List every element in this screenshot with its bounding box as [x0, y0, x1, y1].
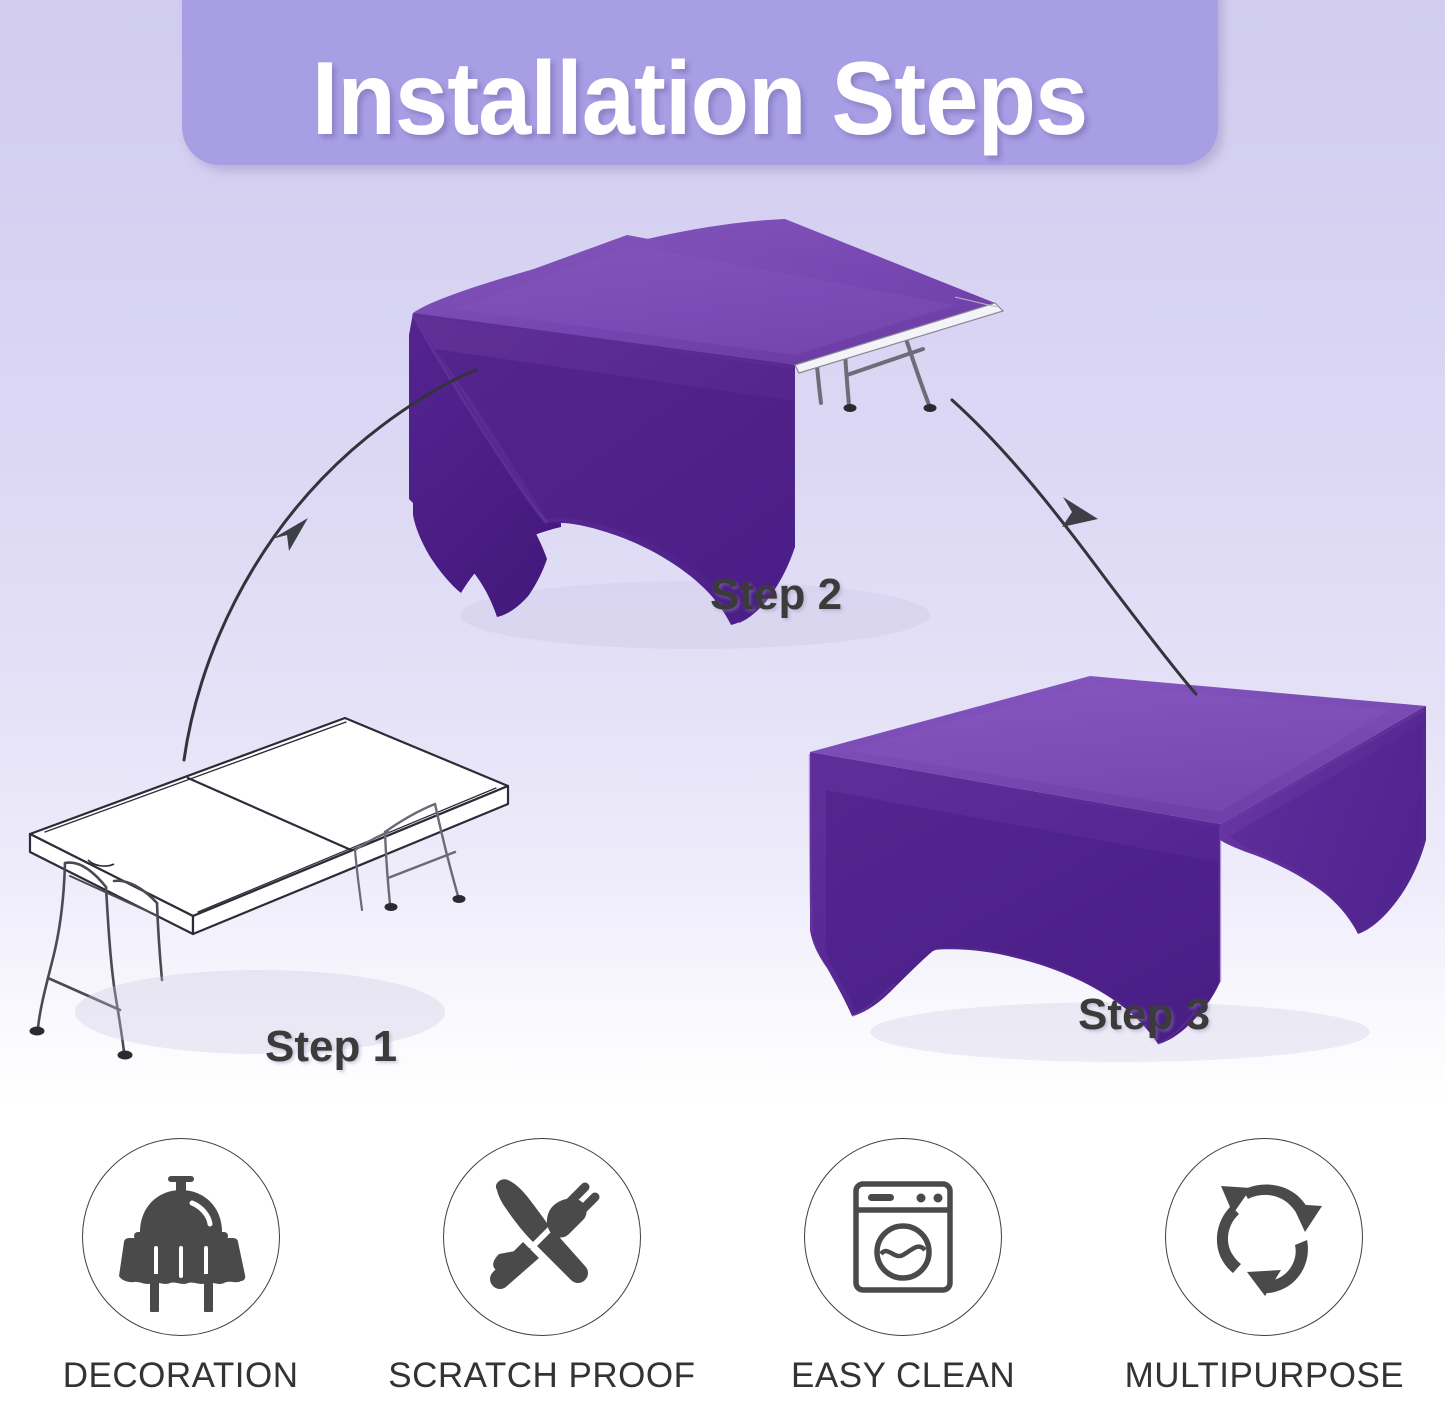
- feature-list: DECORATION: [0, 1138, 1445, 1410]
- feature-multipurpose-circle: [1165, 1138, 1363, 1336]
- step-2-label: Step 2: [710, 570, 842, 620]
- knife-and-fork-icon: [467, 1162, 617, 1312]
- feature-scratch-proof-circle: [443, 1138, 641, 1336]
- feature-scratch-proof-label: SCRATCH PROOF: [388, 1356, 695, 1396]
- feature-easy-clean: EASY CLEAN: [733, 1138, 1073, 1396]
- step-3-label: Step 3: [1078, 990, 1210, 1040]
- feature-decoration-label: DECORATION: [63, 1356, 299, 1396]
- title-banner: Installation Steps: [182, 0, 1218, 165]
- feature-easy-clean-label: EASY CLEAN: [791, 1356, 1015, 1396]
- page-title: Installation Steps: [312, 47, 1088, 151]
- washing-machine-icon: [828, 1162, 978, 1312]
- feature-decoration-circle: [82, 1138, 280, 1336]
- recycle-arrows-icon: [1189, 1162, 1339, 1312]
- infographic-page: Installation Steps: [0, 0, 1445, 1410]
- feature-decoration: DECORATION: [11, 1138, 351, 1396]
- feature-multipurpose: MULTIPURPOSE: [1094, 1138, 1434, 1396]
- arrow-step2-to-step3-head: [1062, 497, 1098, 527]
- feature-scratch-proof: SCRATCH PROOF: [372, 1138, 712, 1396]
- feature-multipurpose-label: MULTIPURPOSE: [1125, 1356, 1405, 1396]
- step-1-label: Step 1: [265, 1022, 397, 1072]
- arrow-step1-to-step2-head: [272, 518, 308, 551]
- feature-easy-clean-circle: [804, 1138, 1002, 1336]
- cloche-on-draped-table-icon: [106, 1162, 256, 1312]
